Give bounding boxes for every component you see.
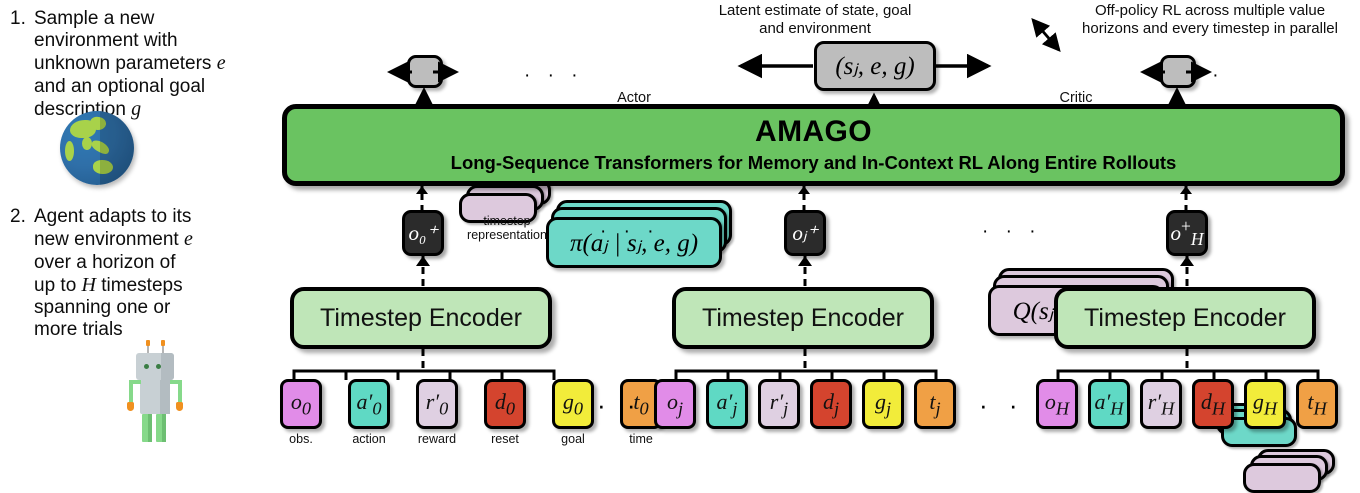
latent-to-critic-arrow bbox=[936, 58, 998, 74]
token-time-h: tH bbox=[1296, 379, 1338, 429]
timestep-token-h: o+H bbox=[1166, 210, 1208, 256]
timestep-encoder-h: Timestep Encoder bbox=[1054, 287, 1316, 349]
token-0-to-banner-arrow bbox=[414, 186, 430, 212]
token-action-j: a′j bbox=[706, 379, 748, 429]
token-action-0-label: a′0 bbox=[357, 389, 382, 419]
timestep-rep-line-1: timestep bbox=[483, 214, 530, 228]
token-obs-0-sublabel: obs. bbox=[272, 432, 330, 446]
ellipsis-top-left: · · · bbox=[524, 66, 584, 85]
token-action-j-label: a′j bbox=[717, 389, 738, 419]
token-h-to-banner-arrow bbox=[1178, 186, 1194, 212]
token-goal-0-sublabel: goal bbox=[544, 432, 602, 446]
token-obs-j: oj bbox=[654, 379, 696, 429]
step-2-line-4: up to H timesteps bbox=[34, 275, 183, 296]
timestep-encoder-0: Timestep Encoder bbox=[290, 287, 552, 349]
timestep-encoder-0-label: Timestep Encoder bbox=[320, 304, 522, 333]
latent-note-line-2: and environment bbox=[759, 20, 871, 37]
token-obs-h-label: oH bbox=[1045, 389, 1069, 419]
token-obs-0-label: o0 bbox=[291, 389, 311, 419]
token-reset-0: d0 bbox=[484, 379, 526, 429]
token-time-j-label: tj bbox=[929, 389, 940, 419]
right-group-arrows bbox=[1133, 50, 1223, 102]
step-2-line-6: more trials bbox=[34, 319, 123, 340]
off-policy-note-line-2: horizons and every timestep in parallel bbox=[1082, 20, 1338, 37]
token-group-j: oj a′j r′j dj gj tj bbox=[654, 379, 956, 429]
timestep-token-j: oⱼ⁺ bbox=[784, 210, 826, 256]
latent-note-line-1: Latent estimate of state, goal bbox=[719, 2, 912, 19]
token-goal-0-label: g0 bbox=[563, 389, 583, 419]
step-2-line-1: Agent adapts to its bbox=[34, 206, 191, 227]
latent-estimate-note: Latent estimate of state, goal and envir… bbox=[690, 2, 940, 37]
step-2-line-5: spanning one or bbox=[34, 297, 170, 318]
timestep-rep-line-2: representation bbox=[467, 228, 547, 242]
latent-formula: (sⱼ, e, g) bbox=[835, 51, 914, 81]
timestep-encoder-j: Timestep Encoder bbox=[672, 287, 934, 349]
step-2-caption: 2. Agent adapts to its new environment e… bbox=[10, 206, 255, 342]
token-reset-0-label: d0 bbox=[495, 389, 515, 419]
timestep-token-j-label: oⱼ⁺ bbox=[792, 221, 817, 246]
token-reward-j: r′j bbox=[758, 379, 800, 429]
step-1-line-1: Sample a new bbox=[34, 8, 154, 29]
step-2-line-3: over a horizon of bbox=[34, 252, 176, 273]
token-obs-0: o0 bbox=[280, 379, 322, 429]
off-policy-note-line-1: Off-policy RL across multiple value bbox=[1095, 2, 1325, 19]
token-reward-0-sublabel: reward bbox=[408, 432, 466, 446]
timestep-encoder-h-label: Timestep Encoder bbox=[1084, 304, 1286, 333]
step-1-line-3: unknown parameters e bbox=[34, 53, 226, 74]
critic-depth-arrow bbox=[1025, 12, 1073, 60]
token-reset-h-label: dH bbox=[1201, 389, 1225, 419]
encoder-h-to-token-arrow bbox=[1179, 256, 1195, 286]
token-action-0-sublabel: action bbox=[340, 432, 398, 446]
token-action-0: a′0 bbox=[348, 379, 390, 429]
token-goal-h-label: gH bbox=[1253, 389, 1277, 419]
off-policy-note: Off-policy RL across multiple value hori… bbox=[1062, 2, 1358, 37]
timestep-token-0: o₀⁺ bbox=[402, 210, 444, 256]
amago-title: AMAGO bbox=[755, 117, 872, 147]
token-time-h-label: tH bbox=[1307, 389, 1326, 419]
latent-to-actor-arrow bbox=[733, 58, 815, 74]
token-reset-j-label: dj bbox=[823, 389, 839, 419]
step-2-line-2: new environment e bbox=[34, 229, 193, 250]
token-time-j: tj bbox=[914, 379, 956, 429]
step-2-number: 2. bbox=[10, 206, 26, 228]
token-goal-0: g0 bbox=[552, 379, 594, 429]
token-group-h: oH a′H r′H dH gH tH bbox=[1036, 379, 1338, 429]
timestep-encoder-j-label: Timestep Encoder bbox=[702, 304, 904, 333]
token-reward-h-label: r′H bbox=[1148, 389, 1175, 419]
token-goal-j: gj bbox=[862, 379, 904, 429]
token-obs-j-label: oj bbox=[667, 389, 683, 419]
ellipsis-mid-left: · · · bbox=[600, 222, 660, 241]
robot-icon bbox=[122, 340, 206, 428]
step-1-number: 1. bbox=[10, 8, 26, 30]
step-1-line-2: environment with bbox=[34, 30, 178, 51]
globe-icon bbox=[60, 111, 134, 185]
right-critic-stack bbox=[1243, 449, 1335, 493]
token-reset-0-sublabel: reset bbox=[476, 432, 534, 446]
encoder-j-to-token-arrow bbox=[797, 256, 813, 286]
left-group-arrows bbox=[380, 50, 470, 102]
token-reset-j: dj bbox=[810, 379, 852, 429]
token-reward-h: r′H bbox=[1140, 379, 1182, 429]
token-reward-0: r′0 bbox=[416, 379, 458, 429]
ellipsis-mid-right: · · · bbox=[982, 222, 1042, 241]
token-action-h-label: a′H bbox=[1094, 389, 1123, 419]
token-obs-h: oH bbox=[1036, 379, 1078, 429]
encoder-0-to-token-arrow bbox=[415, 256, 431, 286]
token-reset-h: dH bbox=[1192, 379, 1234, 429]
token-action-h: a′H bbox=[1088, 379, 1130, 429]
timestep-representation-label: timestep representation bbox=[452, 214, 562, 242]
token-reward-0-label: r′0 bbox=[426, 389, 449, 419]
step-1-line-4: and an optional goal bbox=[34, 76, 205, 97]
token-reward-j-label: r′j bbox=[770, 389, 788, 419]
token-goal-h: gH bbox=[1244, 379, 1286, 429]
token-time-0-sublabel: time bbox=[612, 432, 670, 446]
token-goal-j-label: gj bbox=[875, 389, 891, 419]
timestep-token-0-label: o₀⁺ bbox=[409, 221, 438, 246]
step-1-caption: 1. Sample a new environment with unknown… bbox=[10, 8, 255, 121]
token-j-to-banner-arrow bbox=[796, 186, 812, 212]
amago-subtitle: Long-Sequence Transformers for Memory an… bbox=[451, 154, 1177, 173]
amago-banner: AMAGO Long-Sequence Transformers for Mem… bbox=[282, 104, 1345, 186]
latent-state-box: (sⱼ, e, g) bbox=[814, 41, 936, 91]
timestep-token-h-label: o+H bbox=[1170, 216, 1203, 250]
